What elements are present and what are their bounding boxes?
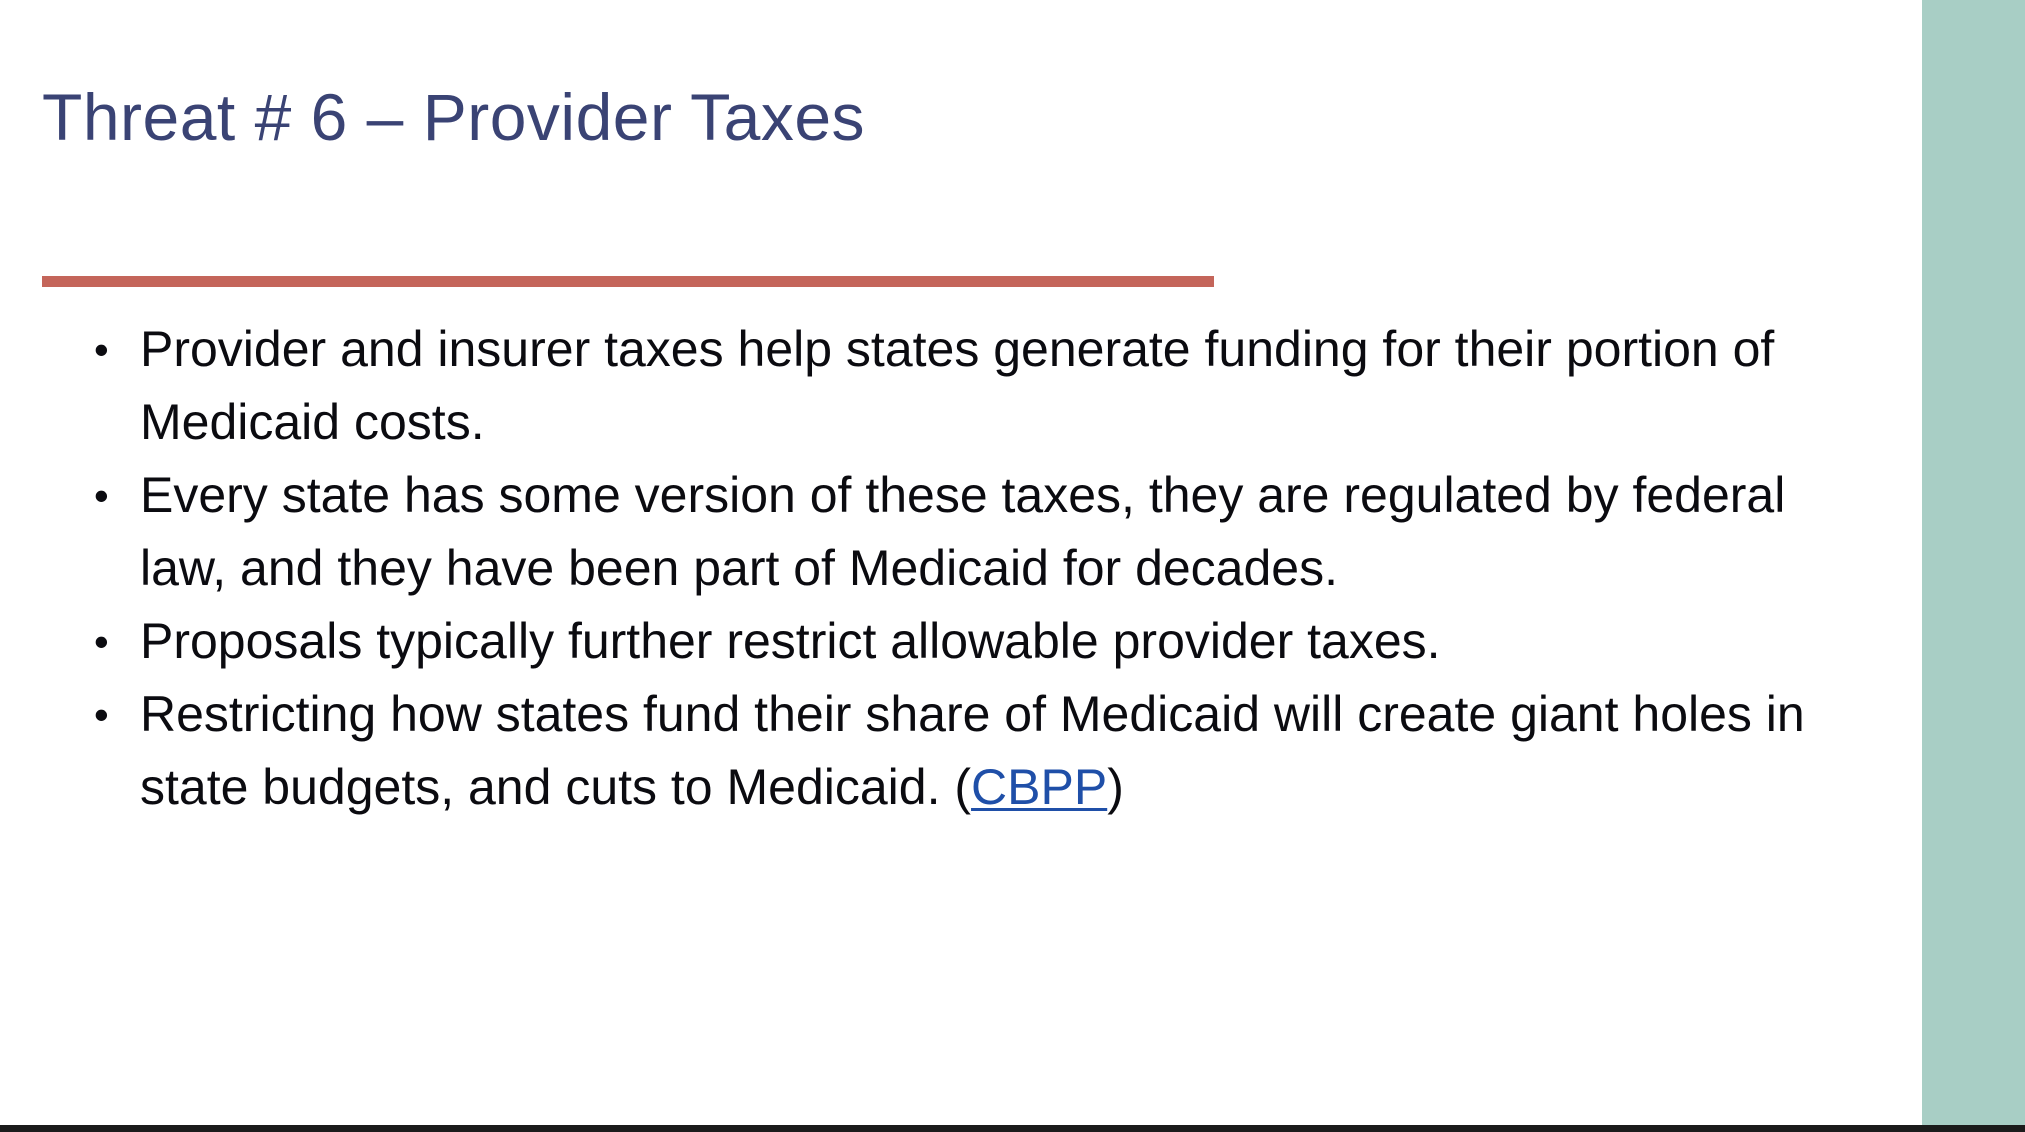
bullet-text: Proposals typically further restrict all… [140,605,1820,678]
decorative-side-band [1922,0,2025,1132]
slide-canvas: Threat # 6 – Provider Taxes • Provider a… [0,0,2025,1132]
bullet-text: Provider and insurer taxes help states g… [140,313,1820,459]
slide-body: • Provider and insurer taxes help states… [88,313,1878,824]
title-block: Threat # 6 – Provider Taxes [42,84,1642,150]
bullet-list: • Provider and insurer taxes help states… [88,313,1878,824]
list-item: • Proposals typically further restrict a… [88,605,1878,678]
bottom-divider [0,1125,2025,1132]
bullet-marker-icon: • [94,678,109,751]
title-underline-rule [42,276,1214,287]
list-item: • Restricting how states fund their shar… [88,678,1878,824]
page-title: Threat # 6 – Provider Taxes [42,84,1642,150]
bullet-marker-icon: • [94,605,109,678]
bullet-text-segment: ) [1107,759,1124,815]
cbpp-source-link[interactable]: CBPP [971,759,1107,815]
list-item: • Provider and insurer taxes help states… [88,313,1878,459]
list-item: • Every state has some version of these … [88,459,1878,605]
bullet-text: Every state has some version of these ta… [140,459,1820,605]
bullet-text-with-link: Restricting how states fund their share … [140,678,1820,824]
bullet-marker-icon: • [94,459,109,532]
bullet-marker-icon: • [94,313,109,386]
